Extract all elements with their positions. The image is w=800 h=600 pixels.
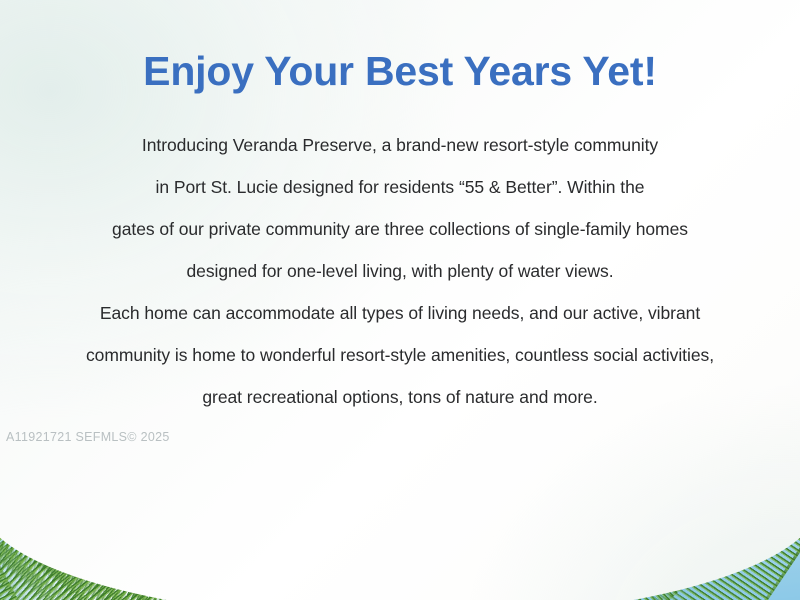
description-line: gates of our private community are three… <box>30 208 770 250</box>
description-line: Introducing Veranda Preserve, a brand-ne… <box>30 124 770 166</box>
description-line: Each home can accommodate all types of l… <box>30 292 770 334</box>
description-line: great recreational options, tons of natu… <box>30 376 770 418</box>
description-line: designed for one-level living, with plen… <box>30 250 770 292</box>
description-line: in Port St. Lucie designed for residents… <box>30 166 770 208</box>
listing-flyer-slide: Enjoy Your Best Years Yet! Introducing V… <box>0 0 800 600</box>
description-paragraph: Introducing Veranda Preserve, a brand-ne… <box>30 124 770 418</box>
mls-watermark: A11921721 SEFMLS© 2025 <box>6 430 170 444</box>
page-title: Enjoy Your Best Years Yet! <box>0 48 800 94</box>
description-line: community is home to wonderful resort-st… <box>30 334 770 376</box>
